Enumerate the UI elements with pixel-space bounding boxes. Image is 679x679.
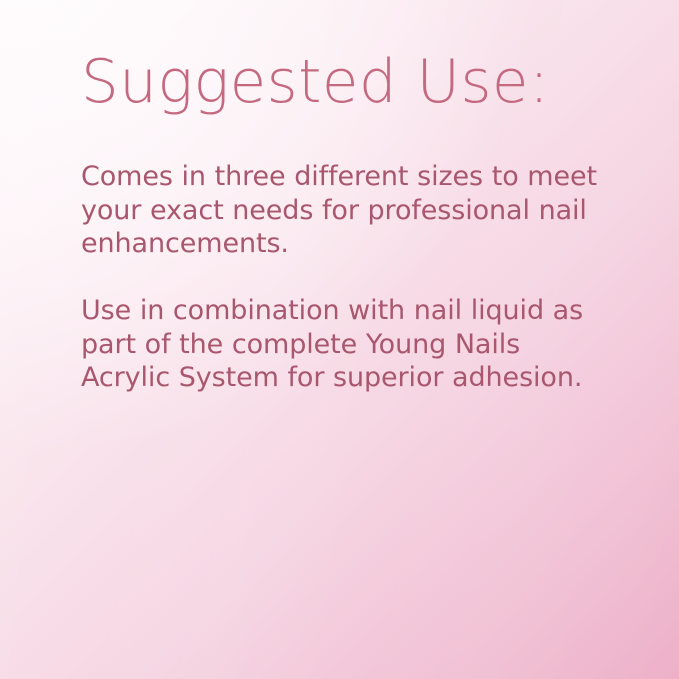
paragraph-line: enhancements. — [81, 227, 581, 261]
paragraph-line: part of the complete Young Nails — [81, 328, 581, 362]
paragraph-sizes: Comes in three different sizes to meet y… — [81, 160, 581, 261]
paragraph-line: your exact needs for professional nail — [81, 194, 581, 228]
paragraph-line: Acrylic System for superior adhesion. — [81, 361, 581, 395]
paragraph-line: Comes in three different sizes to meet — [81, 160, 581, 194]
paragraph-usage: Use in combination with nail liquid as p… — [81, 294, 581, 395]
page-title: Suggested Use: — [81, 52, 549, 112]
paragraph-line: Use in combination with nail liquid as — [81, 294, 581, 328]
suggested-use-panel: Suggested Use: Comes in three different … — [0, 0, 679, 679]
body-text-block: Comes in three different sizes to meet y… — [81, 160, 581, 395]
